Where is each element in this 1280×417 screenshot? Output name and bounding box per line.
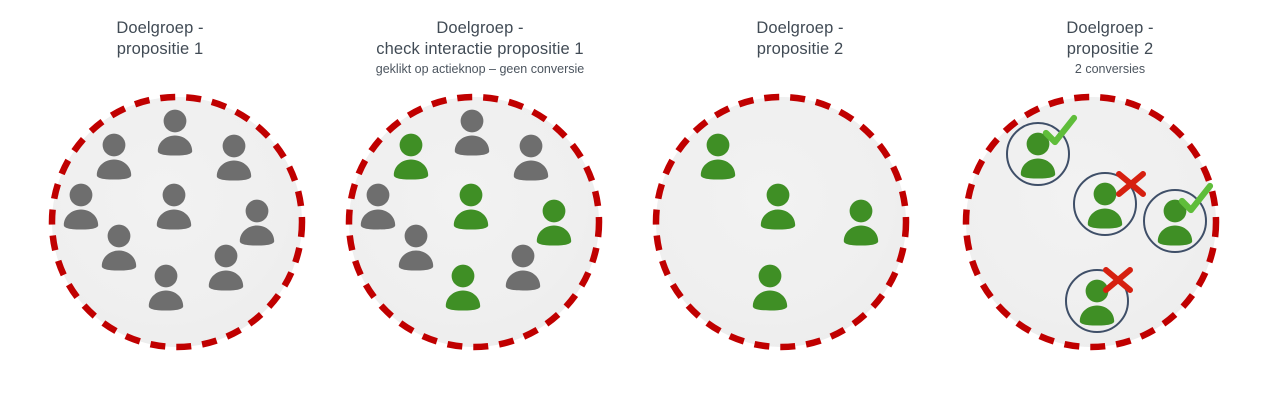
check-icon [1040,113,1080,153]
check-icon [1176,181,1216,221]
panel-1-title-line2: propositie 1 [0,39,320,60]
person-icon-active [695,132,741,180]
panel-3-title: Doelgroep - propositie 2 [660,18,940,60]
person-icon-active [531,198,577,246]
person-icon-inactive [96,223,142,271]
person-icon-active [388,132,434,180]
person-icon-inactive [393,223,439,271]
panel-2-title-line1: Doelgroep - [320,18,640,39]
panel-check-interactie-propositie-1: Doelgroep - check interactie propositie … [320,0,640,417]
panel-3-circle-group [652,93,910,351]
panel-1-circle-group [48,93,306,351]
person-icon-inactive [91,132,137,180]
panel-2-title-line2: check interactie propositie 1 [320,39,640,60]
person-icon-active [755,182,801,230]
person-icon-active [448,182,494,230]
person-icon-inactive [211,133,257,181]
person-icon-inactive [152,108,198,156]
panel-doelgroep-propositie-1: Doelgroep - propositie 1 [0,0,320,417]
cross-icon [1099,261,1139,301]
person-icon-active [747,263,793,311]
panel-4-title-line1: Doelgroep - [970,18,1250,39]
person-icon-inactive [500,243,546,291]
panel-3-title-line1: Doelgroep - [660,18,940,39]
panel-doelgroep-propositie-2: Doelgroep - propositie 2 [640,0,960,417]
panel-2-subtitle: geklikt op actieknop – geen conversie [320,61,640,78]
panel-1-title-line1: Doelgroep - [0,18,320,39]
panel-1-title: Doelgroep - propositie 1 [0,18,320,60]
person-icon-active [440,263,486,311]
person-icon-active [838,198,884,246]
panel-3-title-line2: propositie 2 [660,39,940,60]
person-icon-inactive [234,198,280,246]
cross-icon [1112,165,1152,205]
person-icon-inactive [151,182,197,230]
panel-2-title: Doelgroep - check interactie propositie … [320,18,640,78]
person-icon-inactive [449,108,495,156]
panel-2-circle-group [345,93,603,351]
panel-4-title: Doelgroep - propositie 2 2 conversies [970,18,1250,78]
panel-doelgroep-propositie-2-conversies: Doelgroep - propositie 2 2 conversies [950,0,1270,417]
person-icon-inactive [508,133,554,181]
panel-4-subtitle: 2 conversies [970,61,1250,78]
person-icon-inactive [203,243,249,291]
person-icon-inactive [143,263,189,311]
panel-4-title-line2: propositie 2 [970,39,1250,60]
panel-4-circle-group [962,93,1220,351]
